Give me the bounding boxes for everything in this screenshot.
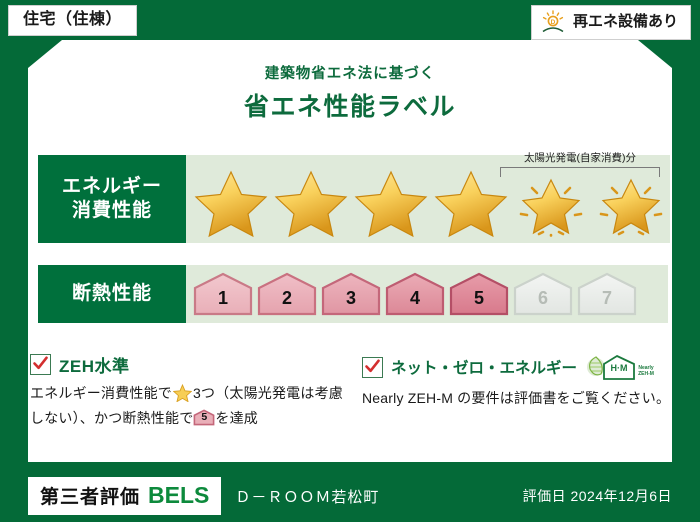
- building-type-tag: 住宅（住棟）: [8, 5, 137, 36]
- insulation-level-3: 3: [320, 271, 382, 317]
- checkbox-checked-icon: [30, 354, 51, 375]
- energy-performance-label: 住宅（住棟） D 再エネ設備あり 建築物省エネ法に基づく 省エネ性能ラベル: [0, 0, 700, 522]
- star-filled-3: [352, 166, 430, 238]
- insulation-level-4: 4: [384, 271, 446, 317]
- solar-note-bracket: [500, 167, 660, 177]
- checkbox-checked-icon: [362, 357, 383, 378]
- star-filled-1: [192, 166, 270, 238]
- energy-rating-body: 太陽光発電(自家消費)分: [186, 155, 670, 243]
- insulation-level-7: 7: [576, 271, 638, 317]
- svg-text:ZEH-M: ZEH-M: [638, 371, 654, 377]
- star-filled-4: [432, 166, 510, 238]
- zeh-body-star-count: 3つ（太陽光発電: [193, 385, 300, 401]
- page-title: 省エネ性能ラベル: [0, 87, 700, 123]
- svg-text:D: D: [551, 19, 556, 26]
- zeh-note-header: ZEH水準: [30, 352, 350, 377]
- insulation-level-5: 5: [448, 271, 510, 317]
- bels-logo-text: BELS: [148, 482, 209, 509]
- zeh-body-part1: エネルギー消費性能で: [30, 385, 172, 401]
- renewable-equipment-badge: D 再エネ設備あり: [531, 5, 691, 40]
- net-zero-energy-note: ネット・ゼロ・エネルギー H·M Nearly ZEH-M Nearly ZEH…: [362, 352, 680, 409]
- footer-bar: 第三者評価 BELS Ｄ－ＲＯＯＭ若松町 評価日 2024年12月6日: [0, 470, 700, 522]
- insulation-level-1: 1: [192, 271, 254, 317]
- nze-note-header: ネット・ゼロ・エネルギー H·M Nearly ZEH-M: [362, 352, 680, 382]
- zeh-standard-note: ZEH水準 エネルギー消費性能で 3つ（太陽光発電は考慮しない）、かつ断熱性能で…: [30, 352, 350, 429]
- bels-jp-label: 第三者評価: [40, 482, 140, 509]
- energy-consumption-row: エネルギー 消費性能: [38, 155, 668, 243]
- inline-star-icon: [173, 384, 192, 408]
- renewable-badge-label: 再エネ設備あり: [573, 13, 678, 30]
- nze-note-body: Nearly ZEH-M の要件は評価書をご覧ください。: [362, 388, 680, 409]
- inline-house-5-icon: 5: [193, 409, 215, 426]
- nze-note-title: ネット・ゼロ・エネルギー: [391, 356, 577, 378]
- insulation-performance-row: 断熱性能 1 2: [38, 265, 668, 323]
- evaluation-date: 評価日 2024年12月6日: [523, 486, 672, 506]
- insulation-level-group: 1 2 3: [186, 271, 638, 317]
- insulation-rating-body: 1 2 3: [186, 265, 668, 323]
- nearly-zeh-m-logo-icon: H·M Nearly ZEH-M: [585, 352, 657, 382]
- star-rating-group: [186, 166, 670, 238]
- zeh-note-body: エネルギー消費性能で 3つ（太陽光発電は考慮しない）、かつ断熱性能で 5 を達成: [30, 383, 350, 429]
- star-filled-2: [272, 166, 350, 238]
- title-block: 建築物省エネ法に基づく 省エネ性能ラベル: [0, 62, 700, 123]
- label-subtitle: 建築物省エネ法に基づく: [0, 62, 700, 83]
- insulation-performance-label: 断熱性能: [38, 265, 186, 323]
- star-solar-5: [512, 166, 590, 238]
- insulation-level-6: 6: [512, 271, 574, 317]
- insulation-level-2: 2: [256, 271, 318, 317]
- energy-consumption-label: エネルギー 消費性能: [38, 155, 186, 243]
- bels-certification-box: 第三者評価 BELS: [28, 477, 221, 515]
- svg-text:H·M: H·M: [611, 363, 628, 373]
- inline-house-num: 5: [193, 412, 215, 423]
- solar-note-label: 太陽光発電(自家消費)分: [494, 153, 666, 165]
- building-name: Ｄ－ＲＯＯＭ若松町: [235, 486, 379, 507]
- zeh-note-title: ZEH水準: [59, 352, 130, 377]
- energy-label-line2: 消費性能: [72, 199, 152, 223]
- energy-label-line1: エネルギー: [62, 175, 162, 199]
- sun-icon: D: [540, 10, 566, 34]
- star-solar-6: [592, 166, 670, 238]
- zeh-body-part3: を達成: [215, 410, 258, 426]
- insulation-label-text: 断熱性能: [72, 282, 152, 306]
- solar-generation-note: 太陽光発電(自家消費)分: [494, 153, 666, 177]
